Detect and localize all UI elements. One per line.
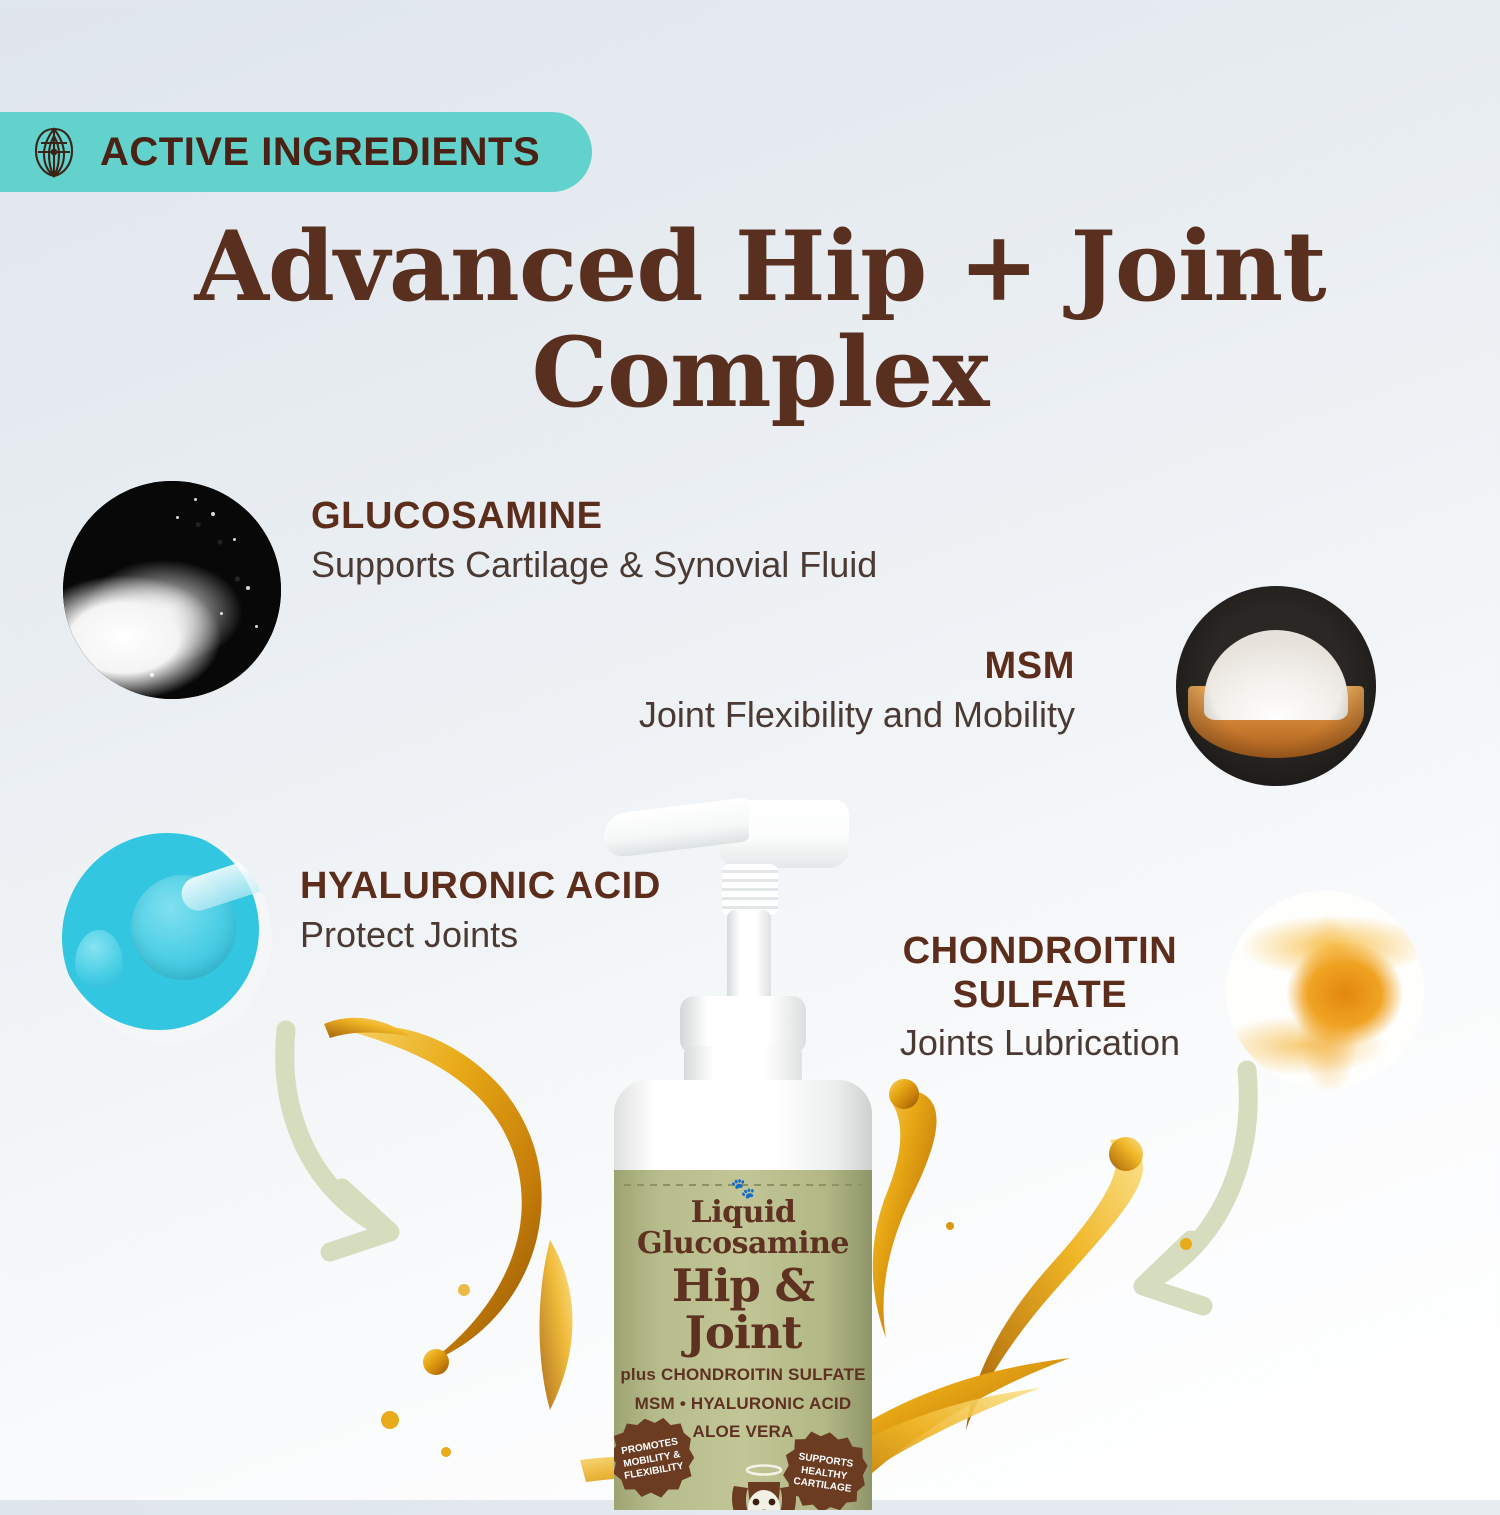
label-sub-line-1: plus CHONDROITIN SULFATE <box>614 1365 872 1386</box>
bottle-label: 🐾 Liquid Glucosamine Hip & Joint plus CH… <box>614 1170 872 1510</box>
msm-photo <box>1176 586 1376 786</box>
pump-head <box>604 800 849 874</box>
label-brand-line-2: Glucosamine <box>614 1229 872 1260</box>
label-brand-line-1: Liquid <box>614 1198 872 1229</box>
infographic-canvas: ACTIVE INGREDIENTS Advanced Hip + Joint … <box>0 0 1500 1500</box>
badge-label: ACTIVE INGREDIENTS <box>100 132 540 172</box>
pump-thread-collar <box>722 864 778 916</box>
active-ingredients-badge: ACTIVE INGREDIENTS <box>0 112 592 192</box>
ingredient-description: Joint Flexibility and Mobility <box>560 693 1075 736</box>
label-product-name: Hip & Joint <box>614 1263 872 1357</box>
product-bottle: 🐾 Liquid Glucosamine Hip & Joint plus CH… <box>592 790 892 1510</box>
page-title: Advanced Hip + Joint Complex <box>70 214 1450 425</box>
glucosamine-photo <box>63 481 281 699</box>
leaf-molecule-icon <box>30 126 78 178</box>
label-sub-line-2: MSM • HYALURONIC ACID <box>614 1394 872 1415</box>
callout-glucosamine: GLUCOSAMINE Supports Cartilage & Synovia… <box>311 495 951 586</box>
callout-msm: MSM Joint Flexibility and Mobility <box>560 645 1075 736</box>
ingredient-description: Supports Cartilage & Synovial Fluid <box>311 543 951 586</box>
dog-mascot-icon <box>718 1456 810 1510</box>
title-line-1: Advanced Hip + Joint <box>70 214 1450 320</box>
ingredient-name-line-1: CHONDROITIN <box>855 930 1225 974</box>
title-line-2: Complex <box>70 320 1450 426</box>
ingredient-name: GLUCOSAMINE <box>311 495 951 539</box>
hyaluronic-acid-photo <box>62 833 272 1043</box>
ingredient-name: MSM <box>560 645 1075 689</box>
